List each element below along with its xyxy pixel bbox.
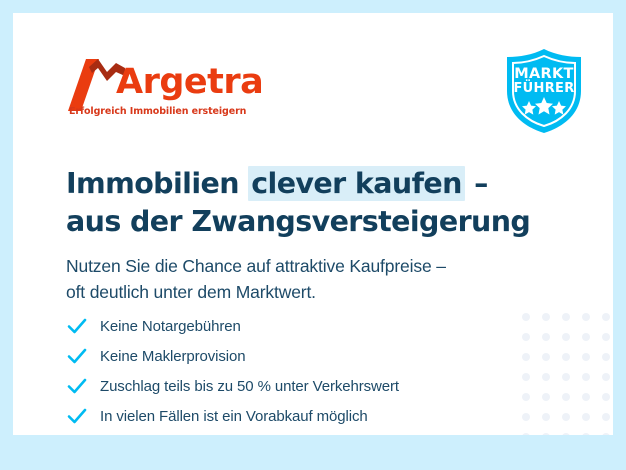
logo-wordmark: Argetra [116,65,263,100]
decorative-dot [582,313,590,321]
subheadline-line1: Nutzen Sie die Chance auf attraktive Kau… [66,253,566,280]
decorative-dot [562,333,570,341]
list-item-label: Zuschlag teils bis zu 50 % unter Verkehr… [100,378,399,395]
decorative-dot [582,393,590,401]
decorative-dot [542,333,550,341]
check-icon [66,345,88,367]
list-item-label: In vielen Fällen ist ein Vorabkauf mögli… [100,408,368,425]
decorative-dot [542,373,550,381]
decorative-dot [562,393,570,401]
subheadline-line2: oft deutlich unter dem Marktwert. [66,279,566,306]
promo-banner: Argetra Erfolgreich Immobilien ersteiger… [0,0,626,470]
decorative-dot [602,433,610,435]
check-icon [66,405,88,427]
market-leader-badge: MARKT FÜHRER [499,47,589,135]
list-item: Keine Maklerprovision [66,341,536,371]
decorative-dot [602,373,610,381]
decorative-dot [602,353,610,361]
check-icon [66,315,88,337]
headline-suffix: – [465,167,488,200]
decorative-dot [542,433,550,435]
decorative-dot [542,413,550,421]
decorative-dot [582,433,590,435]
banner-card: Argetra Erfolgreich Immobilien ersteiger… [13,13,613,435]
headline-highlight: clever kaufen [248,166,465,201]
decorative-dot [582,333,590,341]
decorative-dot [602,413,610,421]
subheadline: Nutzen Sie die Chance auf attraktive Kau… [66,253,566,307]
headline: Immobilien clever kaufen –aus der Zwangs… [66,165,566,241]
decorative-dot [522,433,530,435]
decorative-dot [582,353,590,361]
decorative-dot [582,373,590,381]
decorative-dot [542,353,550,361]
decorative-dot [562,353,570,361]
list-item: Zuschlag teils bis zu 50 % unter Verkehr… [66,371,536,401]
argetra-logo: Argetra Erfolgreich Immobilien ersteiger… [68,57,248,125]
list-item-label: Keine Notargebühren [100,318,241,335]
decorative-dot [582,413,590,421]
decorative-dot [542,393,550,401]
list-item: Keine Notargebühren [66,311,536,341]
headline-line2: aus der Zwangsversteigerung [66,203,566,241]
decorative-dot [562,373,570,381]
decorative-dot [562,413,570,421]
logo-tagline: Erfolgreich Immobilien ersteigern [69,106,246,117]
headline-prefix: Immobilien [66,167,248,200]
decorative-dot [602,333,610,341]
decorative-dot [542,313,550,321]
decorative-dot [562,433,570,435]
list-item-label: Keine Maklerprovision [100,348,245,365]
benefit-list: Keine NotargebührenKeine Maklerprovision… [66,311,536,431]
decorative-dot [602,393,610,401]
check-icon [66,375,88,397]
list-item: In vielen Fällen ist ein Vorabkauf mögli… [66,401,536,431]
shield-badge-icon [499,47,589,135]
decorative-dot [562,313,570,321]
decorative-dot [602,313,610,321]
